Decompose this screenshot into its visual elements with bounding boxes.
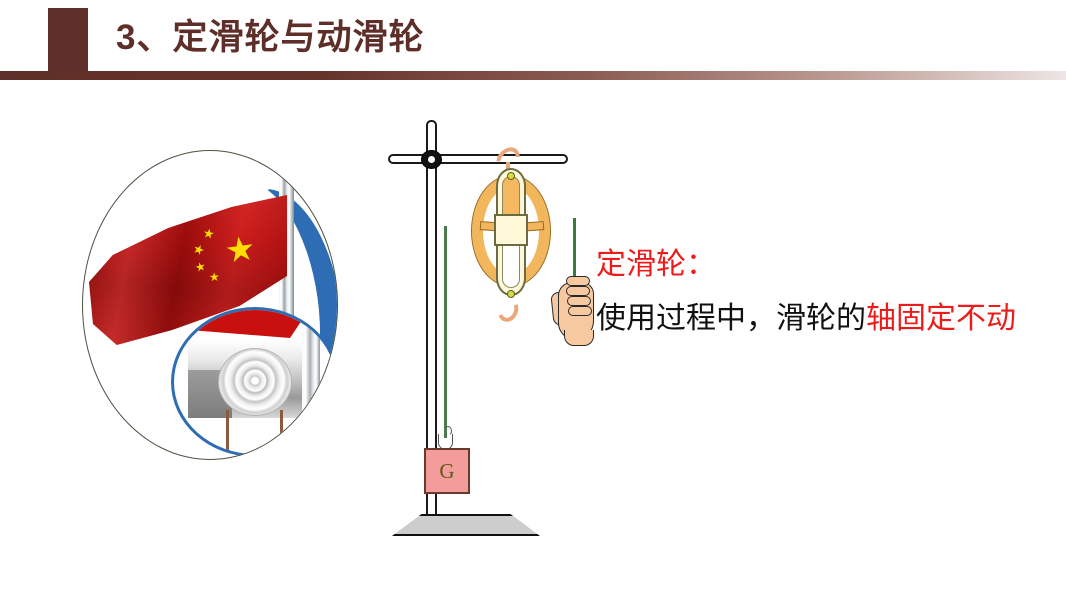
fixed-pulley-definition: 使用过程中，滑轮的轴固定不动 xyxy=(596,297,1056,341)
flag-raising-figure: ★ ★ ★ ★ ★ xyxy=(78,144,346,466)
hand-wrist xyxy=(564,330,594,346)
pulling-hand xyxy=(550,268,602,346)
flag-star-small-icon: ★ xyxy=(194,260,207,274)
flag-star-large-icon: ★ xyxy=(223,231,258,269)
weight-block: G xyxy=(424,448,470,494)
hand-finger-3 xyxy=(567,296,591,306)
hand-finger-1 xyxy=(566,276,590,286)
pulley-pin-top xyxy=(507,172,515,180)
definition-emphasis: 轴固定不动 xyxy=(866,302,1016,335)
pulley-magnifier-inset xyxy=(171,307,338,457)
header-divider-rule xyxy=(0,71,1066,80)
flag-star-small-icon: ★ xyxy=(209,271,221,284)
inset-rope-left xyxy=(226,410,229,456)
inset-flagpole xyxy=(302,310,320,457)
definition-prefix: 使用过程中，滑轮的 xyxy=(596,302,866,335)
stand-base xyxy=(392,514,540,536)
hand-finger-4 xyxy=(568,306,592,316)
weight-label: G xyxy=(439,461,454,482)
rope-left-segment xyxy=(444,226,447,438)
inset-flag-corner xyxy=(171,307,314,338)
inset-pulley-wheel xyxy=(218,348,292,416)
pulley-bottom-hook-icon xyxy=(494,295,521,324)
slide-header: 3、定滑轮与动滑轮 xyxy=(0,0,1066,82)
pulley-axle-plate xyxy=(494,214,528,246)
fixed-pulley-term: 定滑轮： xyxy=(596,243,1056,287)
flag-circle-frame: ★ ★ ★ ★ ★ xyxy=(82,150,338,460)
stand-crossbar xyxy=(388,154,568,164)
title-accent-bar xyxy=(48,8,88,72)
fixed-pulley-apparatus: G xyxy=(388,118,568,538)
flag-star-small-icon: ★ xyxy=(202,226,216,241)
page-title: 3、定滑轮与动滑轮 xyxy=(116,13,424,63)
inset-rope-right xyxy=(280,410,283,456)
hand-finger-2 xyxy=(566,286,590,296)
pulley-pin-bottom xyxy=(507,290,515,298)
crossbar-clamp-center xyxy=(428,156,435,163)
definition-text-block: 定滑轮： 使用过程中，滑轮的轴固定不动 xyxy=(596,243,1056,341)
